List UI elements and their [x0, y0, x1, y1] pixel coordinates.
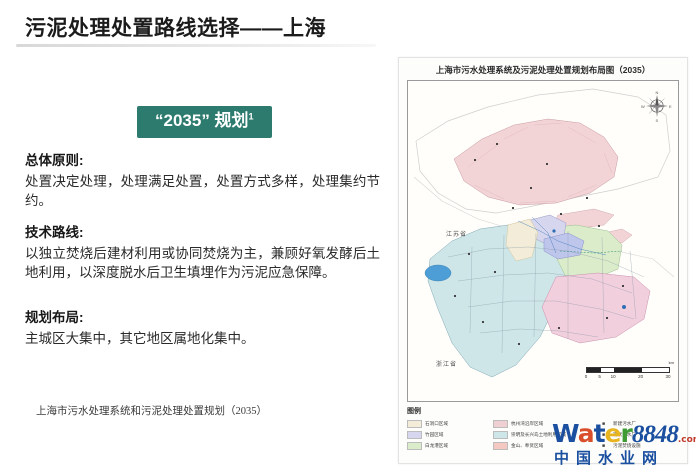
block-heading: 总体原则:	[25, 152, 380, 170]
compass-north-label: N	[656, 90, 659, 95]
slide-root: 污泥处理处置路线选择——上海 “2035” 规划1 总体原则: 处置决定处理，处…	[0, 0, 696, 473]
block-body: 以独立焚烧后建材利用或协同焚烧为主，兼顾好氧发酵后土地利用，以深度脱水后卫生填埋…	[25, 244, 380, 282]
plan-banner-footnote: 1	[249, 111, 254, 121]
legend-item: 竹园区域	[407, 430, 493, 440]
legend-label: 崇明及长兴岛土地利用区域	[511, 432, 566, 438]
scale-tick-row: 0 5 10 20 30	[586, 374, 668, 383]
block-technical-route: 技术路线: 以独立焚烧后建材利用或协同焚烧为主，兼顾好氧发酵后土地利用，以深度脱…	[25, 224, 380, 283]
block-heading: 技术路线:	[25, 224, 380, 242]
compass-east-label: E	[669, 104, 672, 109]
plan-banner: “2035” 规划1	[137, 106, 272, 138]
legend-item: ■ 污泥焚烧设施	[597, 441, 683, 451]
legend-item: 石洞口区域	[407, 419, 493, 429]
legend-label: 杭州湾沿岸区域	[511, 421, 543, 427]
legend-label: 新建污水厂	[613, 421, 636, 427]
map-label-zhejiang: 浙江省	[436, 359, 457, 368]
legend-item: 杭州湾沿岸区域	[493, 419, 597, 429]
legend-swatch-icon	[407, 442, 422, 450]
map-title: 上海市污水处理系统及污泥处理处置规划布局图（2035）	[399, 64, 687, 76]
legend-label: 石洞口区域	[425, 421, 448, 427]
legend-item: 崇明及长兴岛土地利用区域	[493, 430, 597, 440]
block-heading: 规划布局:	[25, 309, 380, 327]
block-planning-layout: 规划布局: 主城区大集中，其它地区属地化集中。	[25, 309, 380, 348]
legend-item: 白龙港区域	[407, 441, 493, 451]
legend-label: 现状污水厂	[613, 432, 636, 438]
legend-square-icon: ■	[597, 432, 610, 438]
legend-item: ■ 新建污水厂	[597, 419, 683, 429]
legend-swatch-icon	[407, 420, 422, 428]
scale-tick: 5	[598, 374, 601, 379]
legend-item: 金山、奉贤区域	[493, 441, 597, 451]
map-graphic	[408, 81, 678, 401]
scale-tick: 30	[665, 374, 670, 379]
left-content-column: “2035” 规划1 总体原则: 处置决定处理，处理满足处置，处置方式多样，处理…	[0, 56, 392, 473]
legend-swatch-icon	[493, 442, 508, 450]
legend-square-icon: ■	[597, 443, 610, 449]
scale-bar-graphic	[586, 367, 670, 373]
source-citation: 上海市污水处理系统和污泥处理处置规划（2035）	[36, 403, 267, 418]
legend-label: 金山、奉贤区域	[511, 443, 543, 449]
map-scale-bar: km 0 5 10 20 30	[586, 367, 668, 383]
map-legend: 图例 石洞口区域 杭州湾沿岸区域 ■ 新建污水厂 竹园区域	[405, 406, 681, 458]
map-label-jiangsu: 江苏省	[446, 229, 467, 238]
compass-rose: N S E W	[644, 93, 670, 123]
legend-swatch-icon	[407, 431, 422, 439]
compass-south-label: S	[656, 118, 659, 123]
title-divider	[16, 44, 376, 47]
compass-west-label: W	[641, 104, 645, 109]
page-title: 污泥处理处置路线选择——上海	[25, 12, 326, 42]
scale-tick: 10	[611, 374, 616, 379]
scale-tick: 20	[638, 374, 643, 379]
scale-tick: 0	[585, 374, 588, 379]
legend-title: 图例	[407, 406, 681, 416]
legend-square-icon: ■	[597, 421, 610, 427]
block-body: 主城区大集中，其它地区属地化集中。	[25, 329, 380, 348]
legend-swatch-icon	[493, 420, 508, 428]
block-general-principle: 总体原则: 处置决定处理，处理满足处置，处置方式多样，处理集约节约。	[25, 152, 380, 211]
legend-label: 竹园区域	[425, 432, 443, 438]
legend-grid: 石洞口区域 杭州湾沿岸区域 ■ 新建污水厂 竹园区域 崇明及长兴岛土地利用区域	[405, 419, 681, 451]
map-frame: 江苏省 浙江省 N S E W	[407, 80, 679, 402]
block-body: 处置决定处理，处理满足处置，处置方式多样，处理集约节约。	[25, 172, 380, 210]
legend-label: 白龙港区域	[425, 443, 448, 449]
legend-item: ■ 现状污水厂	[597, 430, 683, 440]
map-panel: 上海市污水处理系统及污泥处理处置规划布局图（2035）	[398, 57, 688, 464]
plan-banner-label: “2035” 规划	[155, 111, 249, 130]
legend-swatch-icon	[493, 431, 508, 439]
scale-unit-label: km	[669, 360, 674, 365]
legend-label: 污泥焚烧设施	[613, 443, 641, 449]
